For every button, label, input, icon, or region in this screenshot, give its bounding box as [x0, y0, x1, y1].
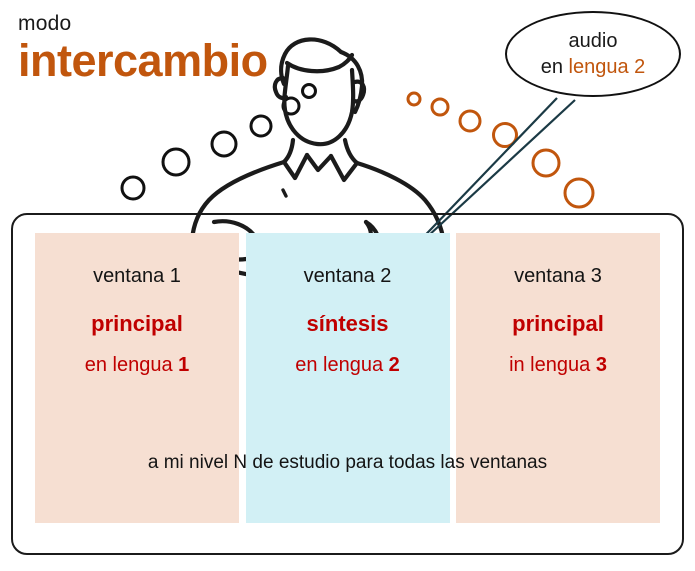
window-2-language-prefix: en lengua — [295, 354, 388, 376]
window-2-role: síntesis — [246, 311, 450, 337]
speech-bubble-text: audio en lengua 2 — [505, 11, 681, 97]
window-3-language-prefix: in lengua — [509, 354, 596, 376]
speech-bubble-line-2-prefix: en — [541, 56, 569, 78]
bubble-circle-orange — [432, 99, 448, 115]
bubble-circle-orange — [494, 124, 517, 147]
bubble-circle-black — [283, 98, 299, 114]
bubble-circle-black — [303, 85, 316, 98]
bubble-circle-black — [163, 149, 189, 175]
window-3-language-number: 3 — [596, 354, 607, 376]
kicker-label: modo — [18, 12, 348, 35]
speech-bubble-line-2-accent: lengua 2 — [569, 56, 646, 78]
orange-circle-arc — [408, 93, 593, 207]
window-2-language: en lengua 2 — [246, 353, 450, 377]
speech-bubble: audio en lengua 2 — [505, 11, 681, 97]
window-1-title: ventana 1 — [35, 264, 239, 288]
panel-caption: a mi nivel N de estudio para todas las v… — [13, 452, 682, 474]
window-2-title: ventana 2 — [246, 264, 450, 288]
window-column-1[interactable]: ventana 1 principal en lengua 1 — [35, 233, 239, 523]
window-3-title: ventana 3 — [456, 264, 660, 288]
window-1-language-prefix: en lengua — [85, 354, 178, 376]
bubble-circle-orange — [460, 111, 480, 131]
window-1-language-number: 1 — [178, 354, 189, 376]
bubble-circle-orange — [565, 179, 593, 207]
main-panel: ventana 1 principal en lengua 1 ventana … — [11, 213, 684, 555]
window-1-language: en lengua 1 — [35, 353, 239, 377]
speech-bubble-line-2: en lengua 2 — [541, 55, 646, 79]
window-column-2[interactable]: ventana 2 síntesis en lengua 2 — [246, 233, 450, 523]
speech-bubble-line-1: audio — [569, 29, 618, 53]
bubble-circle-black — [251, 116, 271, 136]
bubble-circle-black — [212, 132, 236, 156]
header-block: modo intercambio — [18, 12, 348, 86]
window-1-role: principal — [35, 311, 239, 337]
bubble-circle-orange — [408, 93, 420, 105]
page-title: intercambio — [18, 37, 348, 86]
window-2-language-number: 2 — [389, 354, 400, 376]
window-column-3[interactable]: ventana 3 principal in lengua 3 — [456, 233, 660, 523]
black-circle-arc — [122, 85, 316, 200]
bubble-circle-orange — [533, 150, 559, 176]
windows-row: ventana 1 principal en lengua 1 ventana … — [35, 233, 660, 523]
bubble-circle-black — [122, 177, 144, 199]
window-3-role: principal — [456, 311, 660, 337]
window-3-language: in lengua 3 — [456, 353, 660, 377]
